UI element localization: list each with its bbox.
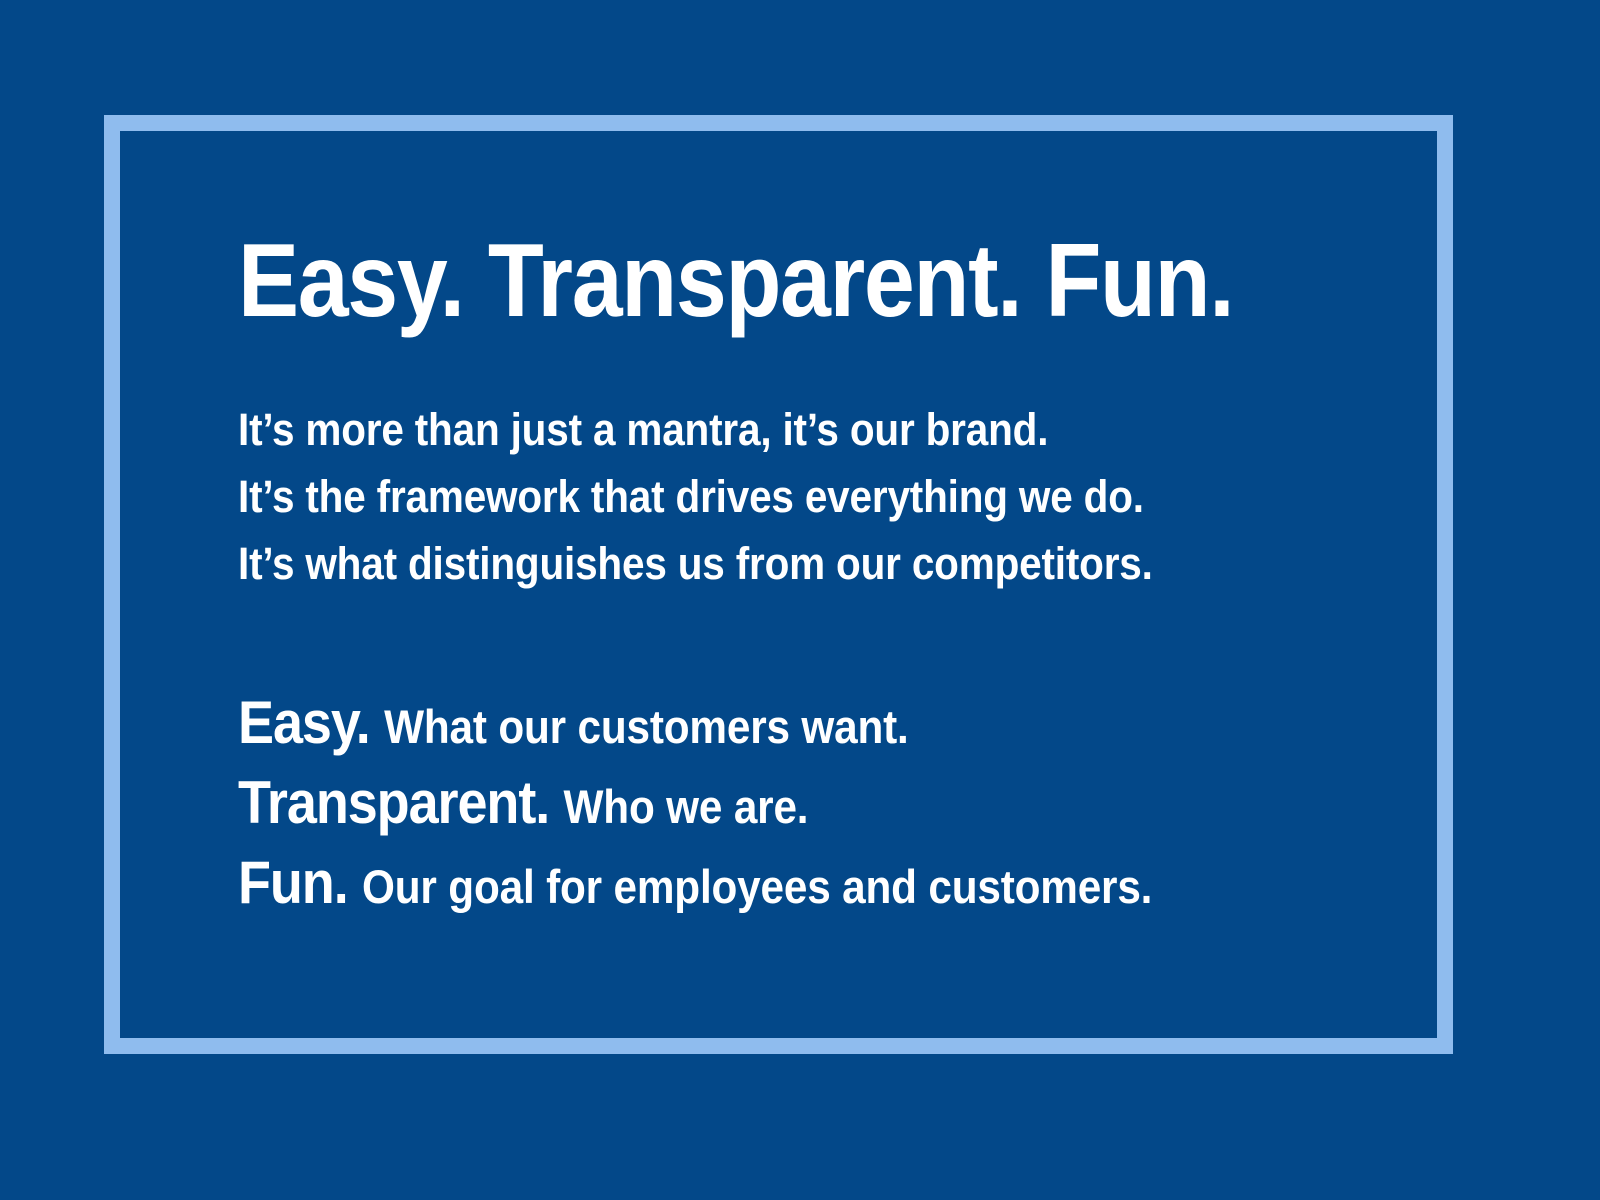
definition-description-fun: Our goal for employees and customers.: [362, 847, 1152, 927]
intro-line-2: It’s the framework that drives everythin…: [238, 463, 1300, 530]
definition-item-transparent: Transparent. Who we are.: [238, 763, 1300, 843]
definition-term-fun: Fun.: [238, 843, 348, 923]
brand-values-slide: Easy. Transparent. Fun. It’s more than j…: [0, 0, 1600, 1200]
definition-item-fun: Fun. Our goal for employees and customer…: [238, 843, 1300, 923]
definition-description-transparent: Who we are.: [564, 767, 809, 847]
definition-term-easy: Easy.: [238, 683, 370, 763]
slide-content: Easy. Transparent. Fun. It’s more than j…: [238, 228, 1418, 923]
intro-line-1: It’s more than just a mantra, it’s our b…: [238, 396, 1300, 463]
page-title: Easy. Transparent. Fun.: [238, 228, 1276, 334]
definition-list: Easy. What our customers want. Transpare…: [238, 683, 1418, 923]
intro-paragraph: It’s more than just a mantra, it’s our b…: [238, 396, 1418, 597]
definition-term-transparent: Transparent.: [238, 763, 549, 843]
definition-description-easy: What our customers want.: [384, 687, 909, 767]
definition-item-easy: Easy. What our customers want.: [238, 683, 1300, 763]
intro-line-3: It’s what distinguishes us from our comp…: [238, 530, 1300, 597]
